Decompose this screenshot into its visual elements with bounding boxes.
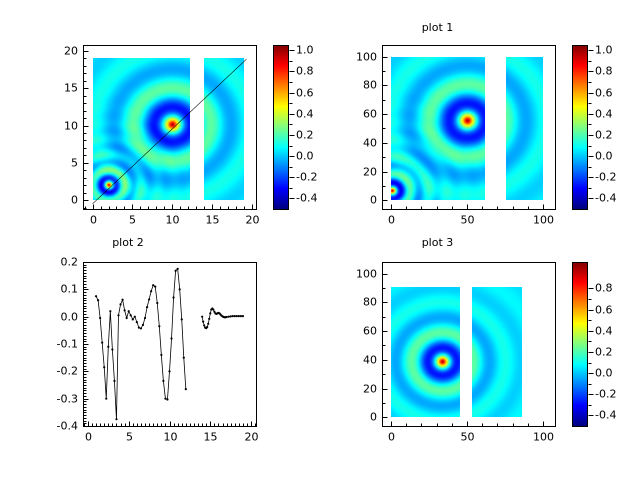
subplot-panel-1[interactable]: plot 1 (320, 0, 640, 240)
plot-title-1: plot 1 (320, 22, 555, 34)
plot-render-3 (320, 240, 640, 480)
plot-render-0 (0, 0, 320, 240)
plot-title-3: plot 3 (320, 237, 555, 249)
plot-render-1 (320, 0, 640, 240)
plot-title-2: plot 2 (0, 237, 256, 249)
figure-canvas: plot 1 plot 2 plot 3 (0, 0, 640, 480)
subplot-panel-2[interactable]: plot 2 (0, 240, 320, 480)
plot-render-2 (0, 240, 320, 480)
subplot-panel-3[interactable]: plot 3 (320, 240, 640, 480)
subplot-panel-0[interactable] (0, 0, 320, 240)
